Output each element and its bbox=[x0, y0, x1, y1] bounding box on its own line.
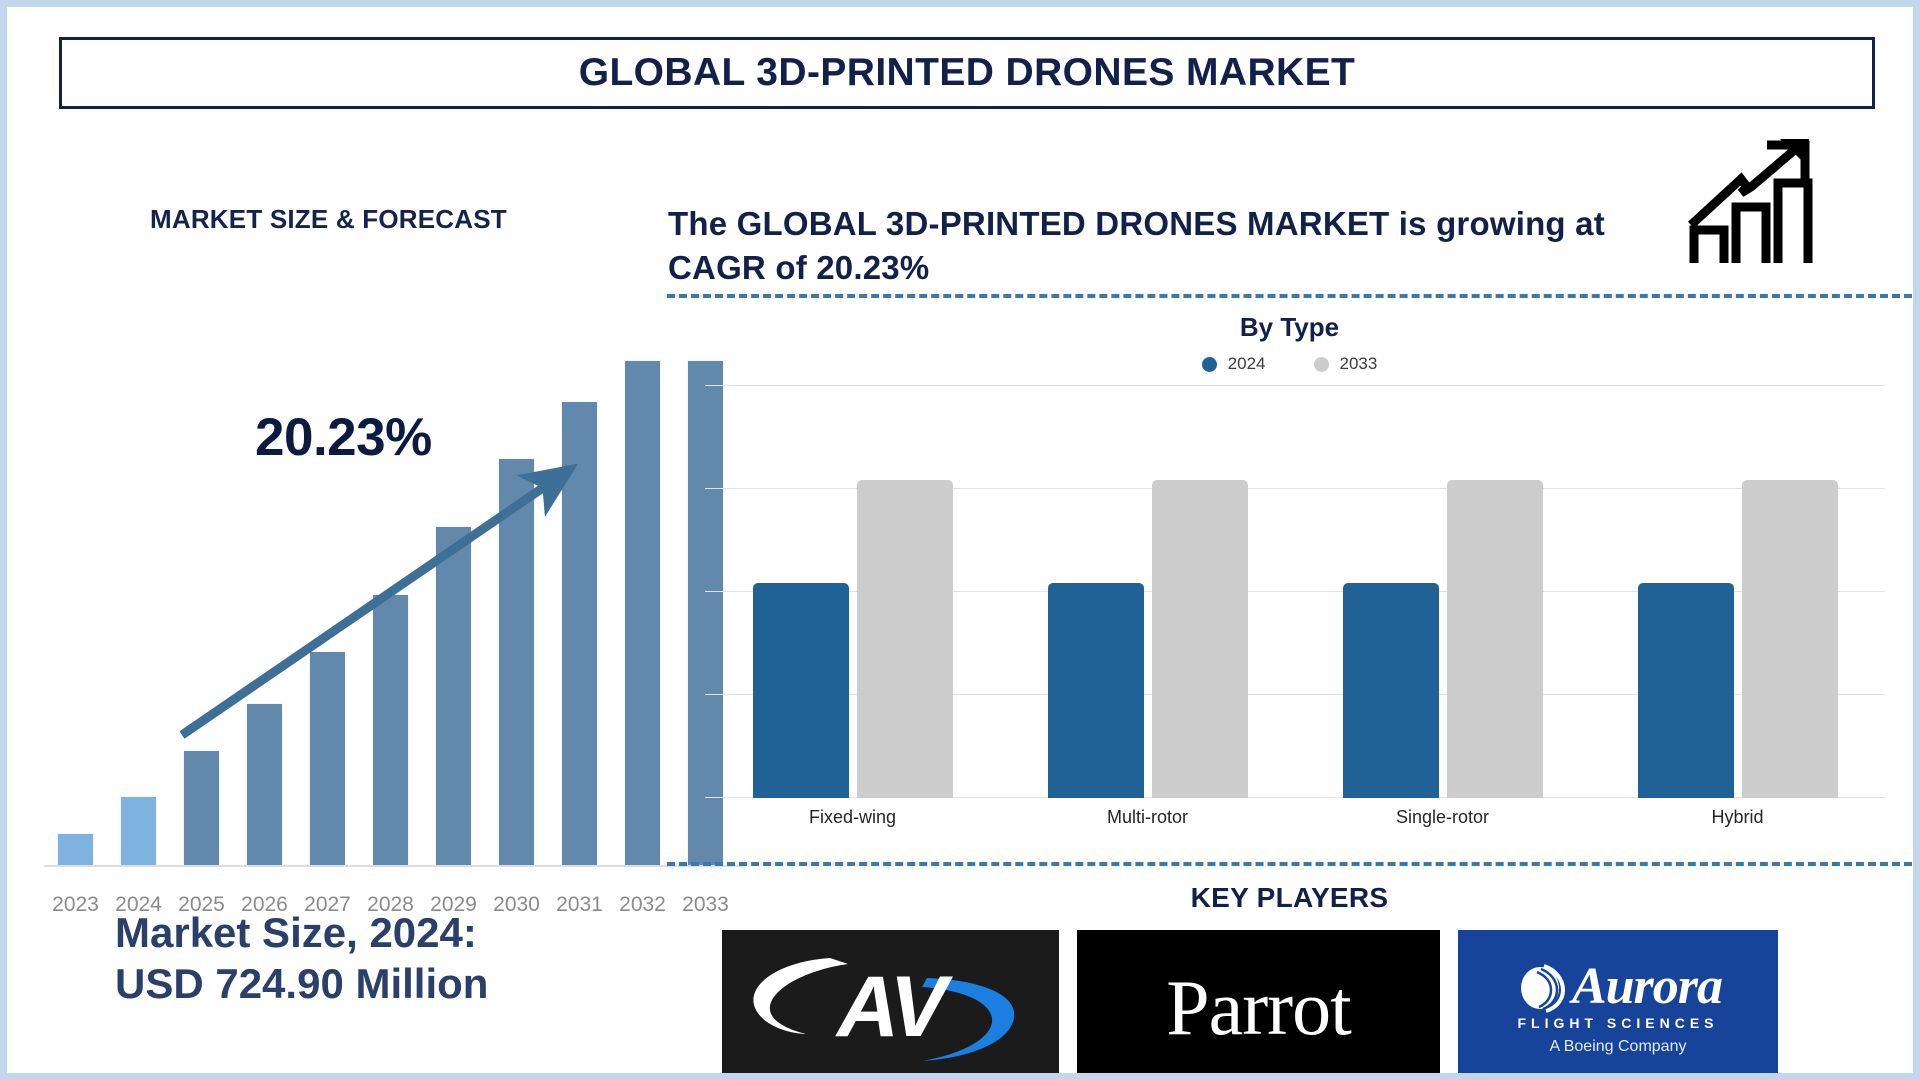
market-size-bar-chart: 2023 2024 2025 2026 2027 2028 2029 2030 … bbox=[27, 317, 727, 977]
bar-slot bbox=[485, 345, 548, 865]
legend-label-2024: 2024 bbox=[1228, 354, 1266, 374]
page-title: GLOBAL 3D-PRINTED DRONES MARKET bbox=[579, 51, 1356, 95]
divider-bottom bbox=[667, 862, 1912, 866]
legend-item-2033: 2033 bbox=[1314, 354, 1378, 374]
category-label-single-rotor: Single-rotor bbox=[1295, 807, 1590, 828]
bar-2024 bbox=[121, 797, 156, 865]
market-size-forecast-panel: MARKET SIZE & FORECAST 20.23% bbox=[7, 117, 737, 1077]
bar-2032 bbox=[625, 361, 660, 865]
bar-slot bbox=[170, 345, 233, 865]
bytype-bar-groups bbox=[705, 385, 1885, 798]
infographic-root: GLOBAL 3D-PRINTED DRONES MARKET MARKET S… bbox=[0, 0, 1920, 1080]
market-size-line-1: Market Size, 2024: bbox=[115, 907, 488, 958]
aurora-name-text: Aurora bbox=[1572, 961, 1722, 1013]
category-label-multi-rotor: Multi-rotor bbox=[1000, 807, 1295, 828]
bar-2030 bbox=[499, 459, 534, 865]
logo-parrot-text: Parrot bbox=[1166, 963, 1351, 1053]
bar-slot bbox=[548, 345, 611, 865]
right-panel: The GLOBAL 3D-PRINTED DRONES MARKET is g… bbox=[667, 117, 1920, 1080]
divider-top bbox=[667, 294, 1912, 298]
bar-group-fixed-wing bbox=[705, 385, 1000, 798]
bar-slot bbox=[233, 345, 296, 865]
year-label: 2023 bbox=[44, 893, 107, 917]
logo-parrot: Parrot bbox=[1077, 930, 1440, 1080]
bar-multi-rotor-2033 bbox=[1152, 480, 1248, 798]
aurora-top-row: Aurora bbox=[1514, 960, 1722, 1014]
title-box: GLOBAL 3D-PRINTED DRONES MARKET bbox=[59, 37, 1875, 109]
bar-group-hybrid bbox=[1590, 385, 1885, 798]
bytype-category-labels: Fixed-wing Multi-rotor Single-rotor Hybr… bbox=[705, 807, 1885, 828]
bar-slot bbox=[296, 345, 359, 865]
aurora-logo-wrap: Aurora FLIGHT SCIENCES A Boeing Company bbox=[1514, 960, 1722, 1056]
bar-2029 bbox=[436, 527, 471, 865]
year-label: 2030 bbox=[485, 893, 548, 917]
aurora-subtitle: FLIGHT SCIENCES bbox=[1517, 1015, 1718, 1031]
legend-dot-2033-icon bbox=[1314, 357, 1329, 372]
year-label: 2031 bbox=[548, 893, 611, 917]
bar-fixed-wing-2024 bbox=[753, 583, 849, 798]
bar-2025 bbox=[184, 751, 219, 865]
growth-bar-chart-arrow-icon bbox=[1685, 135, 1820, 275]
bar-slot bbox=[611, 345, 674, 865]
category-label-hybrid: Hybrid bbox=[1590, 807, 1885, 828]
bar-slot bbox=[107, 345, 170, 865]
bar-2027 bbox=[310, 652, 345, 865]
aurora-globe-icon bbox=[1514, 960, 1568, 1014]
bar-hybrid-2033 bbox=[1742, 480, 1838, 798]
year-label: 2032 bbox=[611, 893, 674, 917]
bar-multi-rotor-2024 bbox=[1048, 583, 1144, 798]
bar-2031 bbox=[562, 402, 597, 865]
logo-aurora-flight-sciences: Aurora FLIGHT SCIENCES A Boeing Company bbox=[1458, 930, 1778, 1080]
bar-2026 bbox=[247, 704, 282, 865]
bytype-legend: 2024 2033 bbox=[667, 354, 1912, 374]
aurora-tagline: A Boeing Company bbox=[1550, 1038, 1687, 1056]
legend-item-2024: 2024 bbox=[1202, 354, 1266, 374]
bar-single-rotor-2024 bbox=[1343, 583, 1439, 798]
bar-group-single-rotor bbox=[1295, 385, 1590, 798]
market-size-2024-callout: Market Size, 2024: USD 724.90 Million bbox=[115, 907, 488, 1009]
cagr-statement: The GLOBAL 3D-PRINTED DRONES MARKET is g… bbox=[668, 202, 1693, 289]
key-players-logos: AV Parrot Aurora FLIGHT bbox=[722, 930, 1912, 1080]
bytype-chart-title: By Type bbox=[667, 312, 1912, 343]
bytype-bar-chart bbox=[705, 385, 1885, 798]
bar-2023 bbox=[58, 834, 93, 865]
bar-fixed-wing-2033 bbox=[857, 480, 953, 798]
bar-hybrid-2024 bbox=[1638, 583, 1734, 798]
section-heading-market-size-forecast: MARKET SIZE & FORECAST bbox=[150, 204, 507, 235]
logo-av-text: AV bbox=[837, 958, 944, 1057]
key-players-heading: KEY PLAYERS bbox=[667, 882, 1912, 914]
bar-slot bbox=[422, 345, 485, 865]
bar-group-multi-rotor bbox=[1000, 385, 1295, 798]
category-label-fixed-wing: Fixed-wing bbox=[705, 807, 1000, 828]
market-size-line-2: USD 724.90 Million bbox=[115, 958, 488, 1009]
bar-slot bbox=[44, 345, 107, 865]
legend-label-2033: 2033 bbox=[1340, 354, 1378, 374]
logo-av-aerovironment: AV bbox=[722, 930, 1059, 1080]
bar-slot bbox=[359, 345, 422, 865]
x-axis-line bbox=[44, 865, 744, 867]
bar-single-rotor-2033 bbox=[1447, 480, 1543, 798]
bar-2028 bbox=[373, 595, 408, 865]
legend-dot-2024-icon bbox=[1202, 357, 1217, 372]
market-size-bars bbox=[44, 345, 737, 865]
